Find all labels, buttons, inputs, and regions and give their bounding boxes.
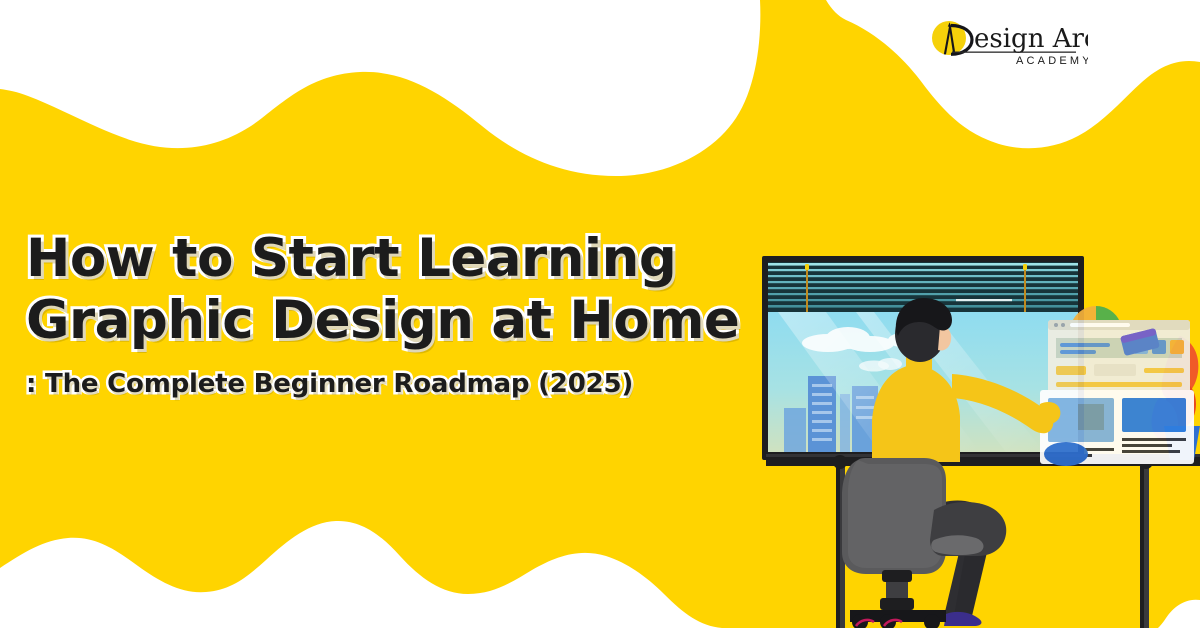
- headline-line-2: Graphic Design at Home: [26, 290, 746, 352]
- floating-ui-panels: [1040, 306, 1194, 466]
- logo-underline: [952, 52, 1076, 53]
- hero-illustration: [748, 248, 1200, 628]
- headline-subtitle: : The Complete Beginner Roadmap (2025): [26, 364, 746, 404]
- banner-canvas: esign Arc ACADEMY How to Start Learning …: [0, 0, 1200, 628]
- person-shoe: [944, 612, 981, 626]
- illustration-svg: [748, 248, 1200, 628]
- brand-logo[interactable]: esign Arc ACADEMY: [928, 16, 1088, 70]
- panel-stand: [1044, 442, 1088, 466]
- blind-cord-right: [1024, 264, 1026, 312]
- blind-highlight: [956, 299, 1012, 301]
- office-chair: [842, 458, 1006, 628]
- blind-cord-left: [806, 264, 808, 312]
- logo-subtext: ACADEMY: [1016, 55, 1088, 67]
- headline-line-1: How to Start Learning: [26, 228, 746, 290]
- headline-block: How to Start Learning Graphic Design at …: [26, 228, 746, 404]
- top-left-blob: [0, 0, 760, 176]
- bottom-left-blob: [0, 521, 722, 628]
- logo-wordmark: esign Arc: [974, 24, 1088, 54]
- chair-armrest: [931, 535, 983, 555]
- logo-svg: esign Arc ACADEMY: [928, 16, 1088, 70]
